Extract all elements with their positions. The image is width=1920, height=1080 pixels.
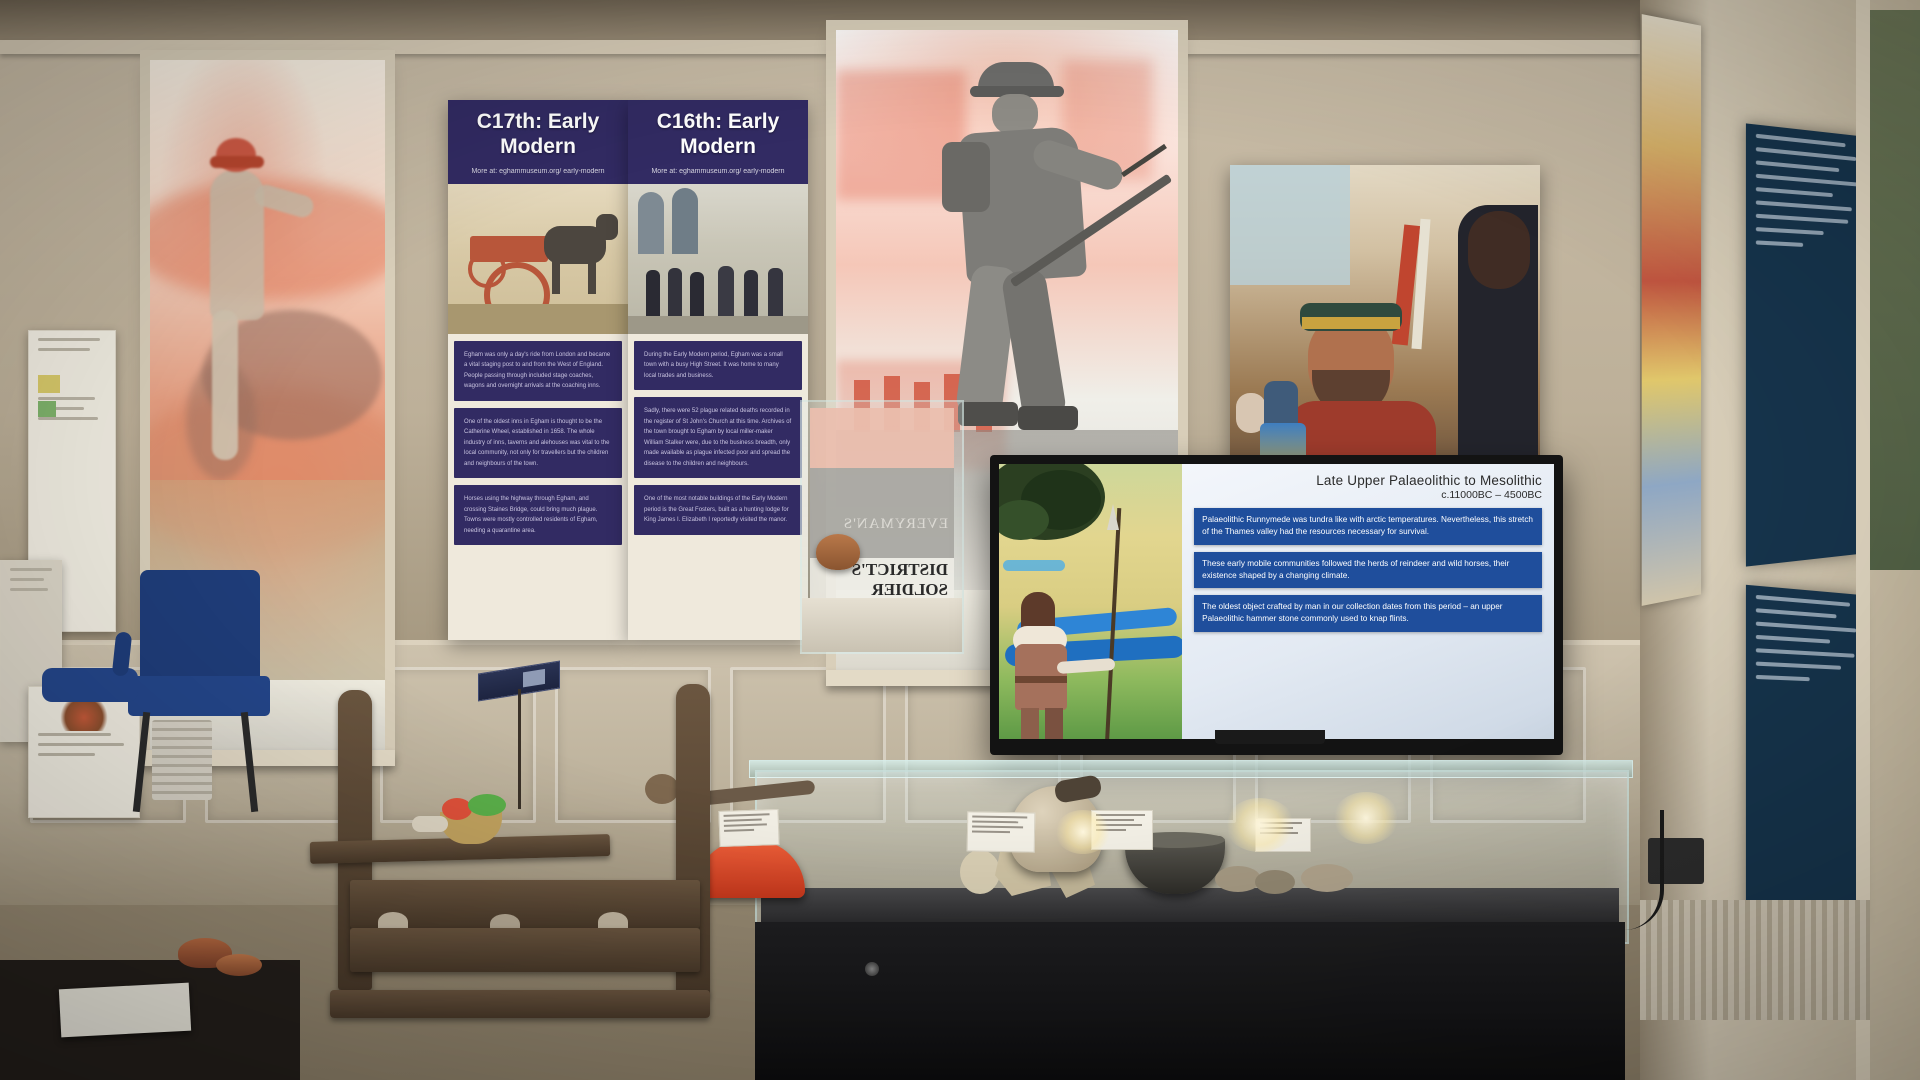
object-flint-flake-1 [960, 850, 1000, 894]
poster-soldier-mirrored: EVERYMAN'S DISTRICT'S SOLDIER [810, 408, 954, 604]
slide-bullet-3: The oldest object crafted by man in our … [1194, 595, 1542, 632]
wooden-stocks [330, 690, 730, 1020]
banner-header: C16th: Early Modern More at: eghammuseum… [628, 100, 808, 184]
radiator [1640, 900, 1870, 1020]
banner-body-3: Horses using the highway through Egham, … [454, 485, 622, 545]
slide-illustration [999, 464, 1182, 739]
wire-waste-basket [152, 720, 212, 800]
lectern-image-thumb [523, 669, 545, 687]
slide-surface: Late Upper Palaeolithic to Mesolithic c.… [999, 464, 1554, 739]
case-lamp [1333, 792, 1399, 844]
slide-text-pane: Late Upper Palaeolithic to Mesolithic c.… [1182, 464, 1554, 739]
blue-stacking-chair-2[interactable] [42, 650, 142, 710]
screen-stand [1215, 730, 1325, 744]
main-display-case[interactable] [755, 770, 1625, 1080]
object-label-card [967, 811, 1036, 852]
object-pebble-tool-1 [1215, 866, 1261, 892]
foreground-papers [59, 983, 191, 1038]
veg-parsnip [412, 816, 448, 832]
lectern-pole [518, 689, 521, 809]
banner-title-line1: C17th: Early [477, 110, 600, 133]
right-window-foliage [1866, 10, 1920, 570]
notice-colour-block [38, 401, 56, 417]
banner-body-1: During the Early Modern period, Egham wa… [634, 341, 802, 391]
banner-body-3: One of the most notable buildings of the… [634, 485, 802, 535]
banner-title-line2: Modern [500, 135, 576, 158]
slide-bullet-1: Palaeolithic Runnymede was tundra like w… [1194, 508, 1542, 545]
case-lamp [1225, 798, 1295, 852]
object-clay-sherd [216, 954, 262, 976]
wall-panel-illuminated-manuscript [1642, 14, 1701, 606]
slide-title: Late Upper Palaeolithic to Mesolithic [1194, 473, 1542, 488]
interpretation-board-lower [1746, 585, 1861, 935]
banner-illustration-townsfolk [628, 184, 808, 334]
slide-subtitle: c.11000BC – 4500BC [1194, 489, 1542, 501]
display-case-soldier-poster: EVERYMAN'S DISTRICT'S SOLDIER [800, 400, 964, 654]
banner-body-2: One of the oldest inns in Egham is thoug… [454, 408, 622, 479]
banner-c16th-early-modern: C16th: Early Modern More at: eghammuseum… [628, 100, 808, 640]
veg-tomato [442, 798, 472, 820]
banner-body-2: Sadly, there were 52 plague related deat… [634, 397, 802, 478]
banner-body-1: Egham was only a day's ride from London … [454, 341, 622, 401]
slide-bullet-2: These early mobile communities followed … [1194, 552, 1542, 589]
banner-title-line2: Modern [680, 135, 756, 158]
case-base-cabinet [755, 922, 1625, 1080]
case-plinth [802, 598, 962, 652]
presentation-screen[interactable]: Late Upper Palaeolithic to Mesolithic c.… [990, 455, 1563, 755]
poster-text-everymans: EVERYMAN'S [816, 516, 948, 536]
banner-subtitle: More at: eghammuseum.org/ early-modern [634, 167, 802, 176]
interpretation-board-upper [1746, 123, 1861, 566]
notice-colour-block [38, 375, 60, 393]
object-pebble-tool-2 [1255, 870, 1295, 894]
museum-gallery-photo: C17th: Early Modern More at: eghammuseum… [0, 0, 1920, 1080]
case-deck [761, 888, 1619, 922]
object-wooden-bowl [816, 534, 860, 570]
banner-subtitle: More at: eghammuseum.org/ early-modern [454, 167, 622, 176]
banner-title-line1: C16th: Early [657, 110, 780, 133]
banner-illustration-cart [448, 184, 628, 334]
picture-rail [0, 40, 1640, 54]
veg-cabbage [468, 794, 506, 816]
case-lamp [1055, 810, 1111, 854]
banner-c17th-early-modern: C17th: Early Modern More at: eghammuseum… [448, 100, 628, 640]
power-cable [1600, 810, 1664, 930]
slide-title-block: Late Upper Palaeolithic to Mesolithic c.… [1194, 473, 1542, 501]
banner-header: C17th: Early Modern More at: eghammuseum… [448, 100, 628, 184]
object-pebble-tool-3 [1301, 864, 1353, 892]
case-lock[interactable] [865, 962, 879, 976]
